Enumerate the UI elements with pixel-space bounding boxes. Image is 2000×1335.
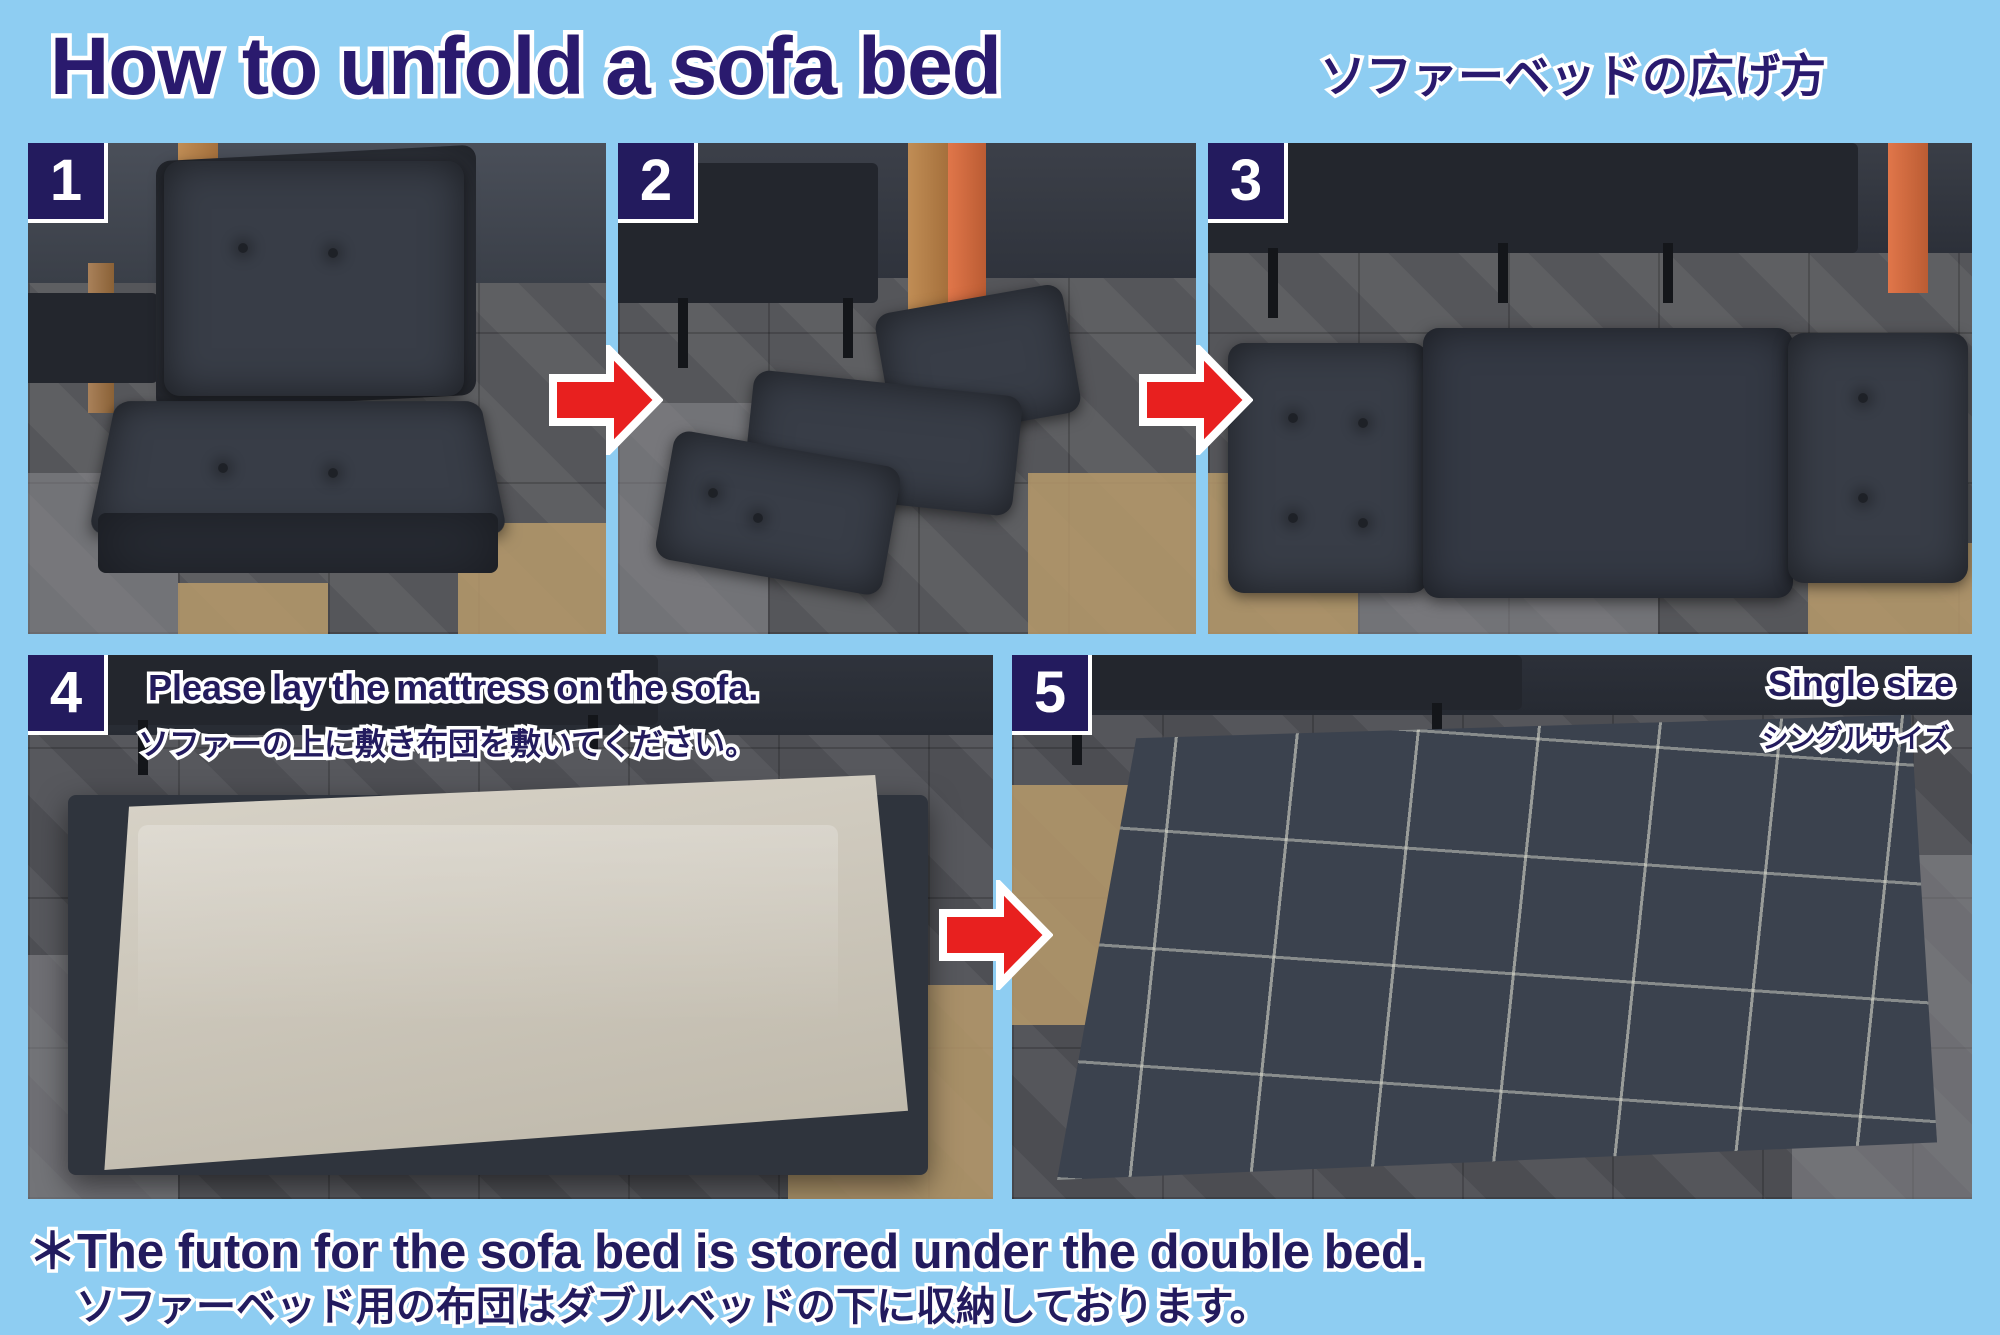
step-3-scene	[1208, 143, 1972, 634]
page-title: How to unfold a sofa bed	[50, 20, 1001, 114]
floor-tile-tan	[1028, 473, 1196, 634]
sheet-check-pattern	[1057, 710, 1937, 1180]
tuft	[218, 463, 228, 473]
footer-note-jp: ソファーベッド用の布団はダブルベッドの下に収納しております。	[76, 1274, 1270, 1332]
tuft	[1858, 493, 1868, 503]
curtain	[1888, 143, 1928, 293]
step-5-photo: 5 Single size シングルサイズ	[1012, 655, 1972, 1199]
bed-leg	[678, 298, 688, 368]
tuft	[708, 488, 718, 498]
floor-tile-tan	[178, 583, 328, 634]
step-badge-1: 1	[28, 143, 108, 223]
single-size-label-jp: シングルサイズ	[1762, 717, 1950, 756]
step-badge-3: 3	[1208, 143, 1288, 223]
tuft	[328, 248, 338, 258]
step-4-photo: 4 Please lay the mattress on the sofa. ソ…	[28, 655, 993, 1199]
sofa-base	[98, 513, 498, 573]
step-1-scene	[28, 143, 606, 634]
bed-leg	[1663, 243, 1673, 303]
tuft	[328, 468, 338, 478]
step-2-scene	[618, 143, 1196, 634]
step-badge-2: 2	[618, 143, 698, 223]
step-3-photo: 3	[1208, 143, 1972, 634]
flat-cushion-left	[1228, 343, 1428, 593]
tuft	[1358, 418, 1368, 428]
flat-cushion-middle	[1423, 328, 1793, 598]
footer-note-en: ＊The futon for the sofa bed is stored un…	[28, 1212, 1425, 1283]
mattress-highlight	[138, 825, 838, 1025]
double-bed	[1208, 143, 1858, 253]
right-arrow-icon	[548, 345, 663, 455]
tuft	[1858, 393, 1868, 403]
step-badge-4: 4	[28, 655, 108, 735]
tuft	[1288, 413, 1298, 423]
single-size-label-en: Single size	[1768, 663, 1954, 705]
step-2-photo: 2	[618, 143, 1196, 634]
right-arrow-icon	[938, 880, 1053, 990]
sheet-over-mattress	[1057, 710, 1937, 1180]
poster-footer: ＊The futon for the sofa bed is stored un…	[0, 1212, 2000, 1335]
bed-leg	[1498, 243, 1508, 303]
step-4-instruction-en: Please lay the mattress on the sofa.	[148, 667, 758, 709]
tuft	[1288, 513, 1298, 523]
step-1-photo: 1	[28, 143, 606, 634]
page-title-japanese: ソファーベッドの広げ方	[1320, 40, 1826, 106]
tuft	[238, 243, 248, 253]
flat-cushion-right	[1788, 333, 1968, 583]
step-badge-5: 5	[1012, 655, 1092, 735]
tuft	[753, 513, 763, 523]
sofa-backrest-cushion	[164, 161, 464, 396]
bed-leg	[843, 298, 853, 358]
bed-leg	[1268, 248, 1278, 318]
right-arrow-icon	[1138, 345, 1253, 455]
poster-header: How to unfold a sofa bed ソファーベッドの広げ方	[0, 0, 2000, 138]
tuft	[1358, 518, 1368, 528]
step-4-instruction-jp: ソファーの上に敷き布団を敷いてください。	[138, 719, 756, 764]
double-bed	[28, 293, 158, 383]
